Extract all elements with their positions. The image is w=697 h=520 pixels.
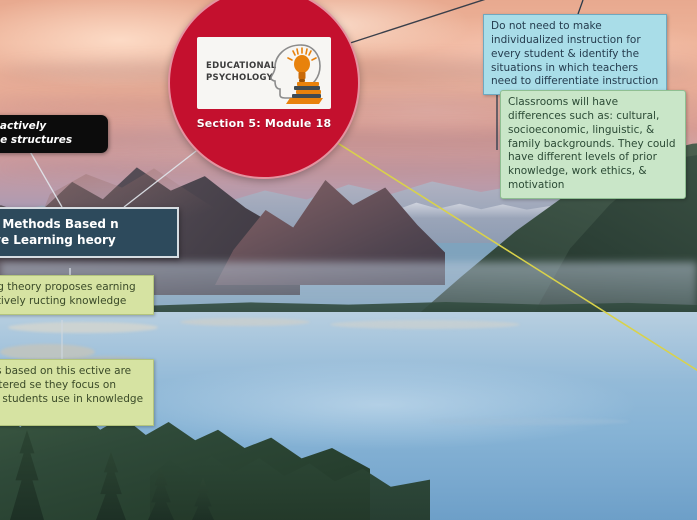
- note-cognitive-learning-theory[interactable]: tive learning theory proposes earning in…: [0, 275, 154, 315]
- note-differentiate-instruction[interactable]: Do not need to make individualized instr…: [483, 14, 667, 95]
- mindmap-canvas[interactable]: EDUCATIONAL PSYCHOLOGY: [0, 0, 697, 520]
- logo-text: EDUCATIONAL PSYCHOLOGY: [206, 61, 268, 84]
- sandbar: [330, 320, 520, 329]
- sandbar: [180, 318, 310, 326]
- central-node-caption: Section 5: Module 18: [197, 117, 332, 130]
- head-lightbulb-books-icon: [261, 39, 327, 107]
- sandbar: [430, 418, 630, 425]
- note-student-centered-methods[interactable]: ing methods based on this ective are stu…: [0, 359, 154, 426]
- educational-psychology-logo: EDUCATIONAL PSYCHOLOGY: [197, 37, 331, 109]
- note-classroom-differences[interactable]: Classrooms will have differences such as…: [500, 90, 686, 199]
- topic-teaching-methods-cognitive-learning[interactable]: eaching Methods Based n Cognitive Learni…: [0, 207, 179, 258]
- lake-reflection: [120, 360, 640, 450]
- note-active-knowledge-structures[interactable]: learning: actively knowledge structures: [0, 115, 108, 153]
- logo-line-2: PSYCHOLOGY: [206, 73, 268, 84]
- logo-line-1: EDUCATIONAL: [206, 61, 268, 72]
- sandbar: [8, 322, 158, 333]
